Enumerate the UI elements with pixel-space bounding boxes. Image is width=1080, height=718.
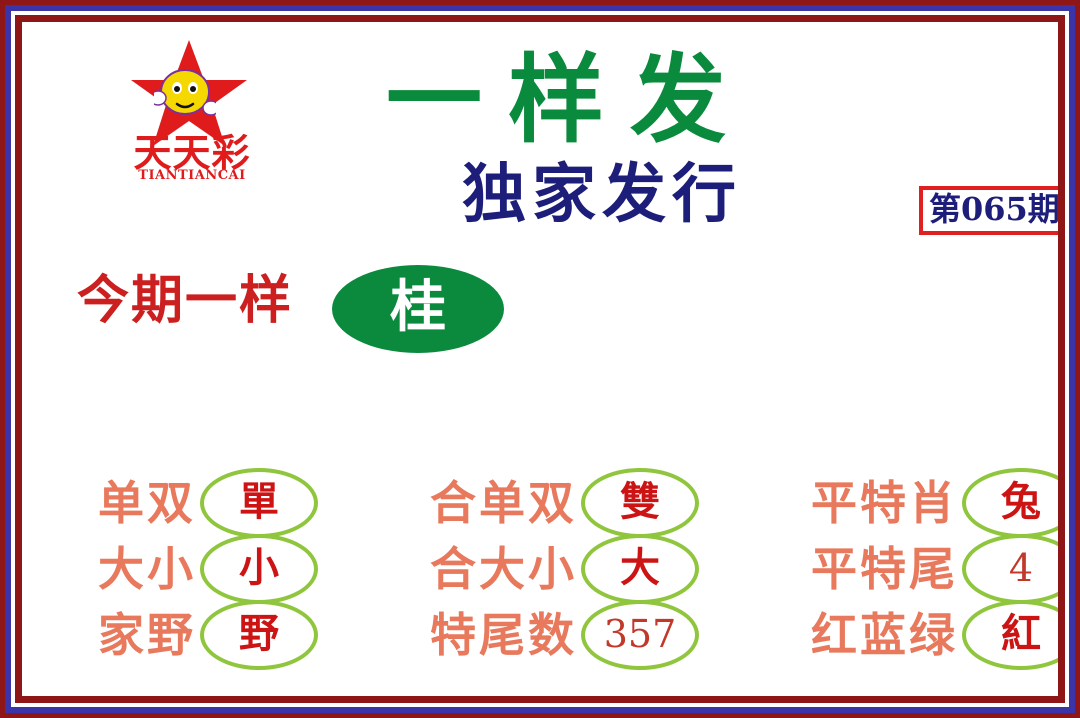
result-row-label: 家野 bbox=[44, 612, 196, 658]
poster-canvas: 天天彩 TIANTIANCAI 一样发 独家发行 第065期 今期一样 桂 单双… bbox=[22, 22, 1058, 696]
column-left: 单双單大小小家野野 bbox=[44, 470, 318, 668]
result-row-value: 4 bbox=[1009, 549, 1033, 587]
result-row-value: 雙 bbox=[620, 482, 660, 522]
column-right: 平特肖兔平特尾4红蓝绿紅 bbox=[752, 470, 1058, 668]
result-row: 平特尾4 bbox=[752, 536, 1058, 602]
featured-pick-badge: 桂 bbox=[332, 265, 504, 353]
result-value-oval: 大 bbox=[581, 534, 699, 604]
featured-pick-value: 桂 bbox=[390, 280, 446, 336]
results-grid: 单双單大小小家野野合单双雙合大小大特尾数357平特肖兔平特尾4红蓝绿紅 bbox=[44, 470, 1058, 668]
result-row-label: 合单双 bbox=[371, 480, 577, 526]
result-value-oval: 雙 bbox=[581, 468, 699, 538]
result-row: 大小小 bbox=[44, 536, 318, 602]
poster-root: 天天彩 TIANTIANCAI 一样发 独家发行 第065期 今期一样 桂 单双… bbox=[0, 0, 1080, 718]
result-row-label: 合大小 bbox=[371, 546, 577, 592]
result-row: 家野野 bbox=[44, 602, 318, 668]
mascot-face-icon bbox=[154, 64, 216, 124]
issue-number-badge: 第065期 bbox=[919, 186, 1058, 235]
column-middle: 合单双雙合大小大特尾数357 bbox=[371, 470, 699, 668]
result-row-value: 野 bbox=[239, 614, 279, 654]
result-row: 平特肖兔 bbox=[752, 470, 1058, 536]
result-value-oval: 4 bbox=[962, 534, 1058, 604]
result-row: 合大小大 bbox=[371, 536, 699, 602]
tagline-text: 今期一样 bbox=[77, 275, 293, 327]
result-row: 特尾数357 bbox=[371, 602, 699, 668]
result-row-label: 特尾数 bbox=[371, 612, 577, 658]
result-row-value: 兔 bbox=[1001, 482, 1041, 522]
result-row-value: 357 bbox=[604, 615, 677, 653]
logo-pinyin-text: TIANTIANCAI bbox=[122, 168, 262, 183]
result-value-oval: 野 bbox=[200, 600, 318, 670]
result-row-value: 小 bbox=[239, 548, 279, 588]
result-row-value: 大 bbox=[620, 548, 660, 588]
result-row-value: 紅 bbox=[1001, 614, 1041, 654]
result-value-oval: 單 bbox=[200, 468, 318, 538]
result-row: 合单双雙 bbox=[371, 470, 699, 536]
page-subtitle: 独家发行 bbox=[462, 163, 742, 227]
result-value-oval: 小 bbox=[200, 534, 318, 604]
page-title: 一样发 bbox=[284, 50, 854, 151]
logo-chinese-text: 天天彩 bbox=[122, 134, 262, 172]
result-row-label: 大小 bbox=[44, 546, 196, 592]
result-row-label: 平特肖 bbox=[752, 480, 958, 526]
result-value-oval: 兔 bbox=[962, 468, 1058, 538]
result-row: 红蓝绿紅 bbox=[752, 602, 1058, 668]
result-row-label: 单双 bbox=[44, 480, 196, 526]
result-row-label: 红蓝绿 bbox=[752, 612, 958, 658]
result-row: 单双單 bbox=[44, 470, 318, 536]
result-row-label: 平特尾 bbox=[752, 546, 958, 592]
result-value-oval: 紅 bbox=[962, 600, 1058, 670]
result-value-oval: 357 bbox=[581, 600, 699, 670]
result-row-value: 單 bbox=[239, 482, 279, 522]
brand-logo: 天天彩 TIANTIANCAI bbox=[122, 38, 262, 203]
